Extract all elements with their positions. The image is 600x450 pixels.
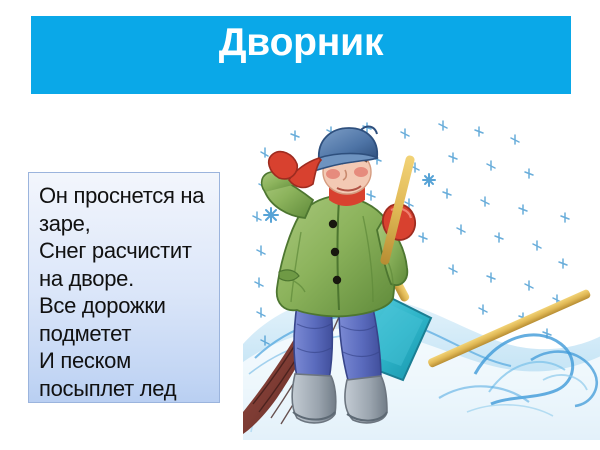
coat-button [333,276,341,284]
janitor-illustration-svg [243,112,600,440]
janitor-illustration [243,112,600,440]
cheek [326,169,340,179]
poem-text-box: Он проснется на заре, Снег расчистит на … [28,172,220,403]
coat-button [329,220,337,228]
title-banner: Дворник [31,16,571,94]
poem-line: Все дорожки [39,292,213,320]
poem-line: подметет [39,320,213,348]
poem-line: заре, [39,210,213,238]
cheek [354,167,368,177]
page-title: Дворник [219,23,384,64]
poem-line: И песком [39,347,213,375]
poem-line: Он проснется на [39,182,213,210]
poem-line: на дворе. [39,265,213,293]
poem-line: Снег расчистит [39,237,213,265]
coat-button [331,248,339,256]
poem-line: посыплет лед [39,375,213,403]
